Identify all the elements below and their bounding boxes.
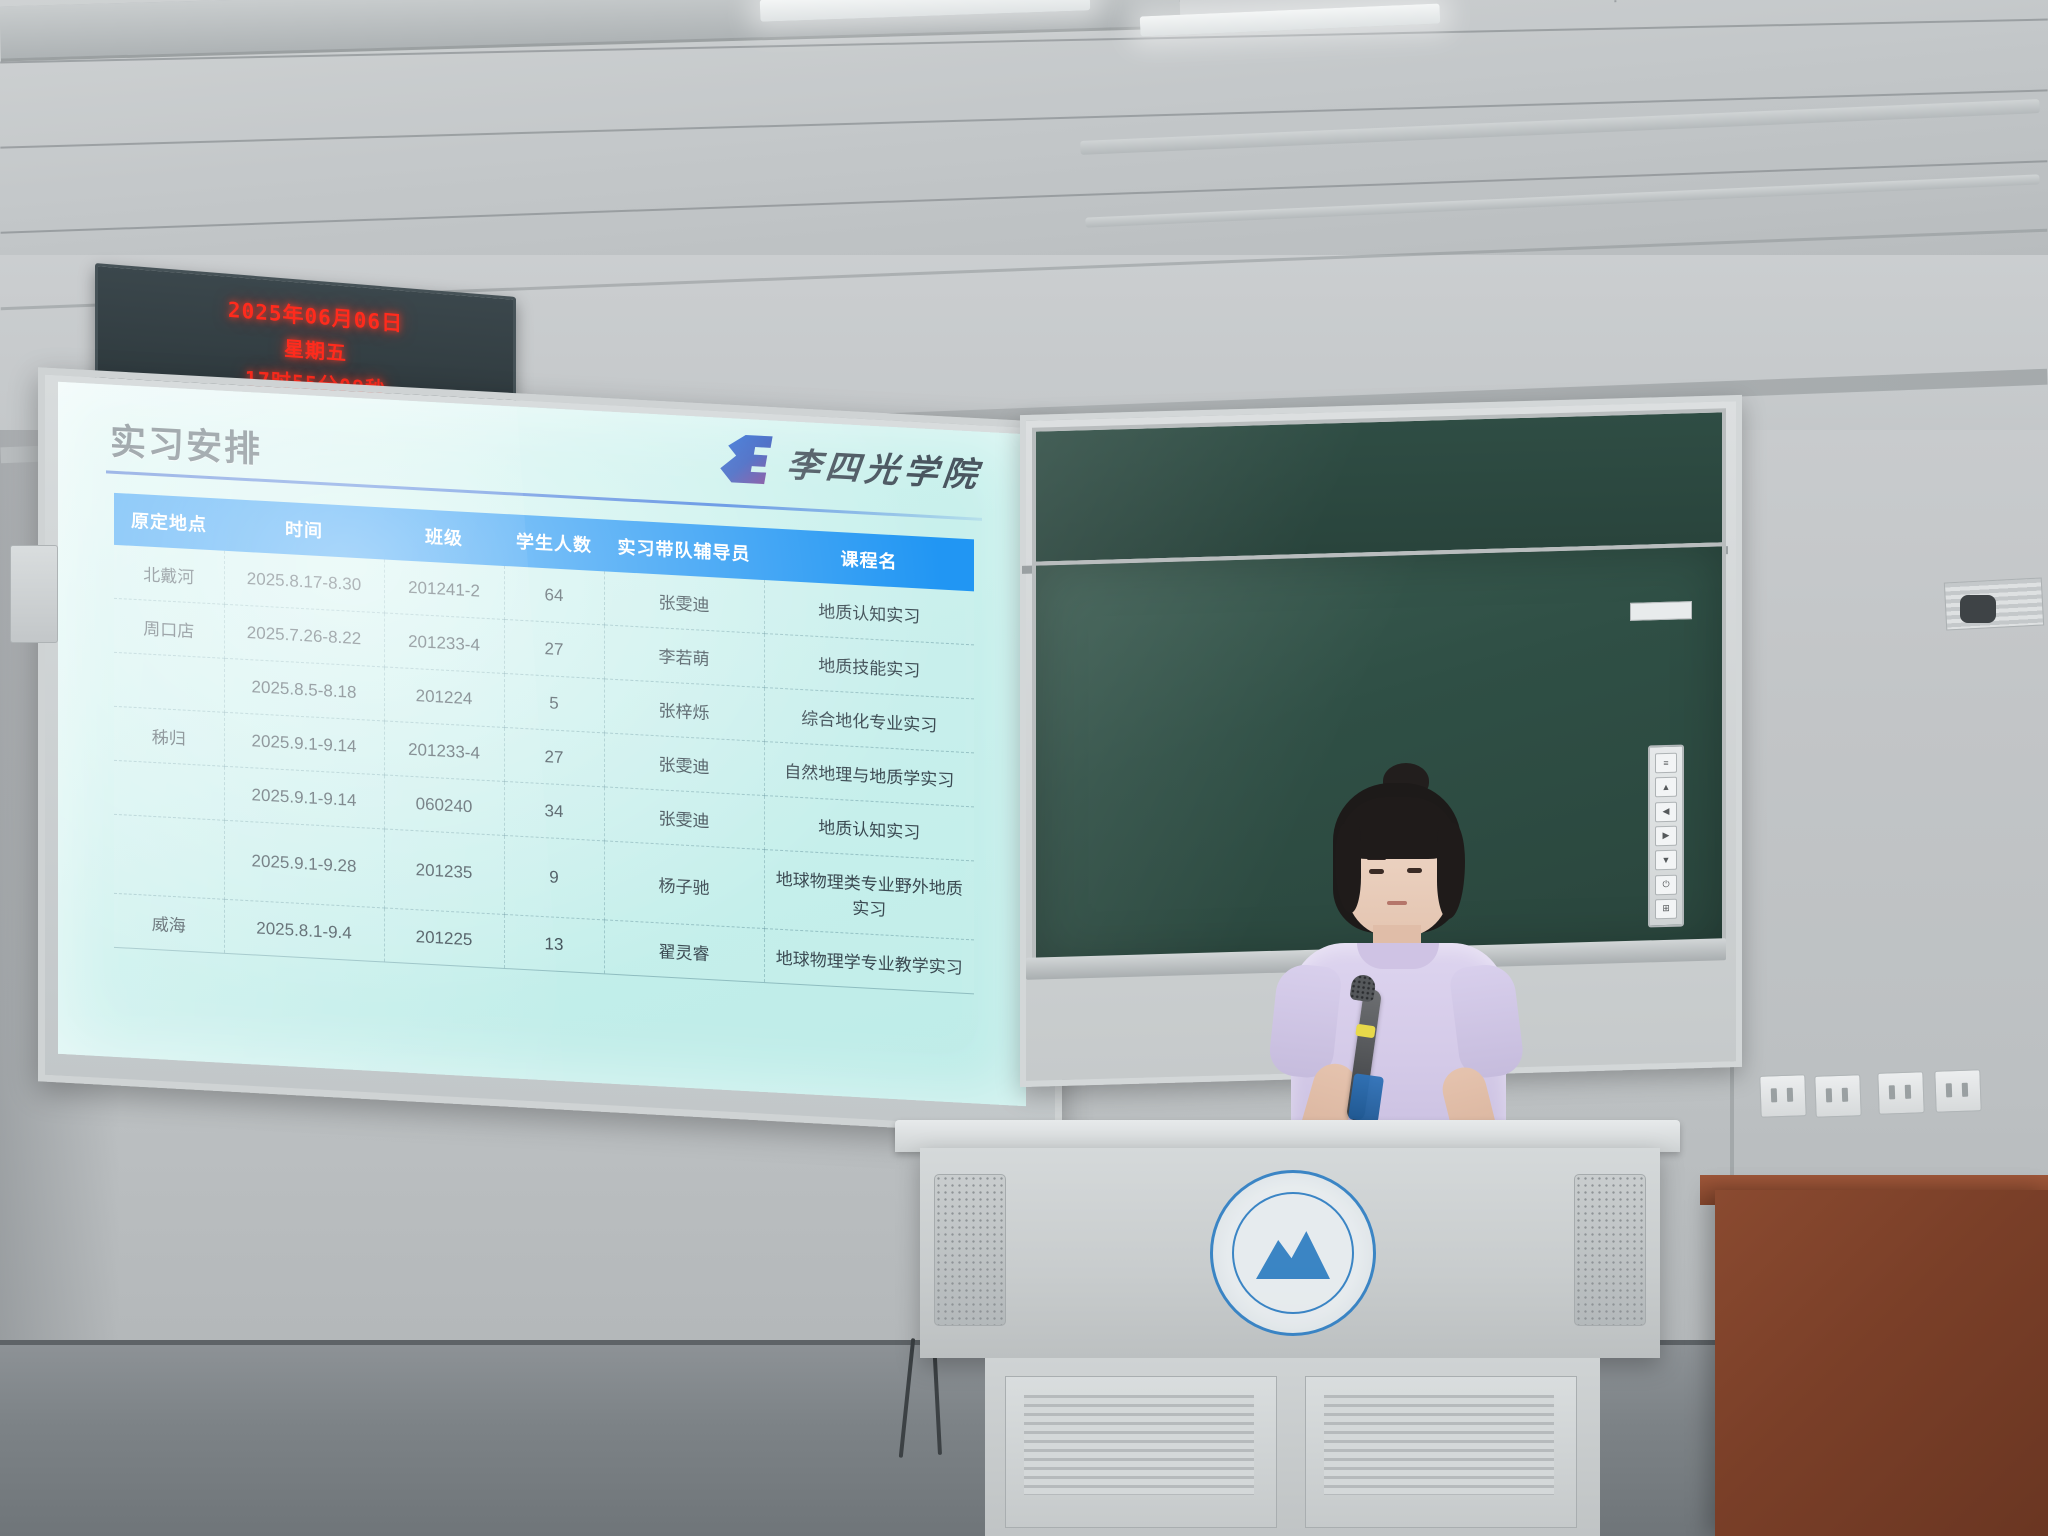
microphone-flag-tag xyxy=(1348,1073,1384,1123)
hair-side-right xyxy=(1437,823,1465,919)
wall-outlet[interactable] xyxy=(1759,1074,1806,1118)
shirt-collar xyxy=(1357,943,1439,969)
cell-advisor: 张雯迪 xyxy=(604,733,764,796)
lecture-hall-photo: 2025年06月06日 星期五 17时55分09秒 实习安排 xyxy=(0,0,2048,1536)
col-header-class: 班级 xyxy=(384,507,504,565)
cell-course: 地球物理类专业野外地质实习 xyxy=(764,850,974,940)
wall-outlet[interactable] xyxy=(1877,1071,1924,1115)
cell-location xyxy=(114,814,224,899)
cell-location: 秭归 xyxy=(114,706,224,766)
cell-location: 周口店 xyxy=(114,598,224,658)
cell-students: 27 xyxy=(504,619,604,678)
cell-dates: 2025.7.26-8.22 xyxy=(224,604,384,667)
sleeve-left xyxy=(1267,962,1342,1080)
cell-dates: 2025.8.5-8.18 xyxy=(224,658,384,721)
camera-icon xyxy=(1960,595,1996,623)
led-date: 2025年06月06日 xyxy=(228,294,403,338)
cell-class: 201241-2 xyxy=(384,559,504,619)
blackboard-sheen xyxy=(1036,412,1722,561)
mouth xyxy=(1387,901,1407,905)
chevron-right-icon[interactable]: ▶ xyxy=(1655,826,1677,847)
slide-title: 实习安排 xyxy=(110,413,262,473)
presentation-slide: 实习安排 李四光学院 xyxy=(58,382,1026,1106)
cell-course: 地球物理学专业教学实习 xyxy=(764,929,974,994)
col-header-dates: 时间 xyxy=(224,499,384,560)
chevron-down-icon[interactable]: ▼ xyxy=(1655,850,1677,871)
podium-cabinet xyxy=(985,1358,1600,1536)
chevron-left-icon[interactable]: ◀ xyxy=(1655,801,1677,822)
power-icon[interactable]: ⏻ xyxy=(1655,874,1677,895)
cell-class: 201233-4 xyxy=(384,613,504,673)
cell-advisor: 李若萌 xyxy=(604,625,764,688)
cell-class: 060240 xyxy=(384,775,504,835)
vent-grille xyxy=(1024,1395,1254,1495)
cell-advisor: 张雯迪 xyxy=(604,571,764,633)
presenter xyxy=(1255,775,1535,1155)
eye-right xyxy=(1407,868,1422,873)
wall-outlet[interactable] xyxy=(1934,1069,1981,1113)
led-weekday: 星期五 xyxy=(284,332,347,366)
eye-left xyxy=(1369,869,1384,874)
col-header-advisor: 实习带队辅导员 xyxy=(604,519,764,580)
cell-location: 威海 xyxy=(114,893,224,953)
blackboard-upper-panel xyxy=(1032,408,1726,565)
cell-location: 北戴河 xyxy=(114,545,224,604)
cell-class: 201233-4 xyxy=(384,721,504,781)
cell-students: 27 xyxy=(504,727,604,786)
cell-class: 201225 xyxy=(384,908,504,968)
cell-dates: 2025.9.1-9.14 xyxy=(224,712,384,775)
cell-dates: 2025.8.1-9.4 xyxy=(224,899,384,962)
blackboard-brand-label xyxy=(1630,601,1692,621)
cell-class: 201235 xyxy=(384,829,504,914)
microphone-band xyxy=(1355,1024,1375,1039)
blackboard-control-panel[interactable]: ≡ ▲ ◀ ▶ ▼ ⏻ ⊞ xyxy=(1648,744,1684,927)
col-header-students: 学生人数 xyxy=(504,514,604,571)
wall-speaker xyxy=(10,545,58,643)
col-header-location: 原定地点 xyxy=(114,493,224,551)
podium-speaker-right xyxy=(1574,1174,1646,1326)
chevron-up-icon[interactable]: ▲ xyxy=(1655,777,1677,798)
vent-grille xyxy=(1324,1395,1554,1495)
college-logo: 李四光学院 xyxy=(717,431,982,497)
logo-mark-icon xyxy=(717,431,775,486)
source-icon[interactable]: ⊞ xyxy=(1655,899,1677,920)
cell-dates: 2025.9.1-9.14 xyxy=(224,766,384,829)
cell-dates: 2025.8.17-8.30 xyxy=(224,551,384,613)
cell-location xyxy=(114,652,224,712)
cell-location xyxy=(114,760,224,820)
cell-students: 9 xyxy=(504,835,604,919)
wooden-desk xyxy=(1715,1190,2048,1536)
projection-screen: 实习安排 李四光学院 xyxy=(58,382,1026,1106)
cell-advisor: 张梓烁 xyxy=(604,679,764,742)
cell-students: 64 xyxy=(504,566,604,625)
cell-students: 13 xyxy=(504,914,604,973)
cell-advisor: 杨子驰 xyxy=(604,841,764,929)
podium-speaker-left xyxy=(934,1174,1006,1326)
wall-outlet[interactable] xyxy=(1814,1074,1861,1118)
emblem-inner-ring xyxy=(1232,1192,1354,1314)
cell-advisor: 翟灵睿 xyxy=(604,920,764,983)
logo-text: 李四光学院 xyxy=(784,437,984,496)
cell-students: 5 xyxy=(504,673,604,732)
cabinet-door-left[interactable] xyxy=(1005,1376,1277,1528)
cabinet-door-right[interactable] xyxy=(1305,1376,1577,1528)
menu-icon[interactable]: ≡ xyxy=(1655,753,1677,774)
podium-body xyxy=(920,1148,1660,1358)
internship-table: 原定地点 时间 班级 学生人数 实习带队辅导员 课程名 北戴河 2025.8.1… xyxy=(114,493,974,995)
university-emblem xyxy=(1210,1170,1376,1336)
cell-class: 201224 xyxy=(384,667,504,727)
cell-dates: 2025.9.1-9.28 xyxy=(224,820,384,908)
cell-advisor: 张雯迪 xyxy=(604,787,764,850)
mountain-icon xyxy=(1256,1227,1330,1279)
cell-students: 34 xyxy=(504,781,604,840)
